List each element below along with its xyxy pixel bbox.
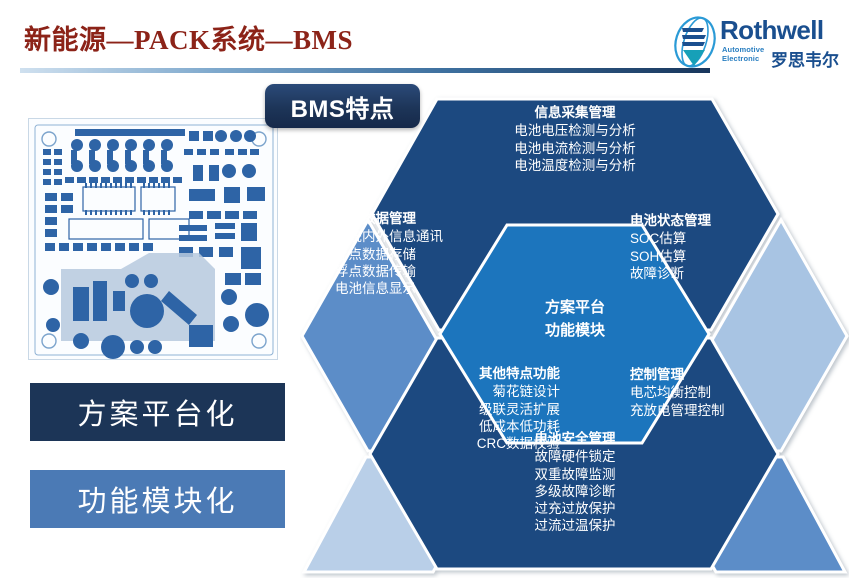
logo-subtitle-line2: Electronic [722,54,759,63]
bms-feature-badge: BMS特点 [265,84,420,128]
logo-wordmark: Rothwell [720,15,824,46]
logo-subtitle: Automotive Electronic [722,45,764,63]
pcb-layout-image [28,118,278,360]
header-divider [20,68,710,73]
caption-box-platform: 方案平台化 [30,383,285,441]
slide: 新能源—PACK系统—BMS Rothwell Automotive Elect… [0,0,849,578]
logo-subtitle-line1: Automotive [722,45,764,54]
page-title: 新能源—PACK系统—BMS [24,18,353,57]
hexagon-center-label: 方案平台 功能模块 [485,297,665,342]
bms-feature-hexagon-diagram: 信息采集管理 电池电压检测与分析 电池电流检测与分析 电池温度检测与分析 电池数… [300,90,849,578]
center-line-1: 方案平台 [545,299,605,316]
rothwell-mark-icon [672,14,718,70]
caption-box-module: 功能模块化 [30,470,285,528]
logo-chinese-name: 罗思韦尔 [771,46,839,71]
company-logo: Rothwell Automotive Electronic 罗思韦尔 [672,12,840,72]
center-line-2: 功能模块 [545,322,605,339]
